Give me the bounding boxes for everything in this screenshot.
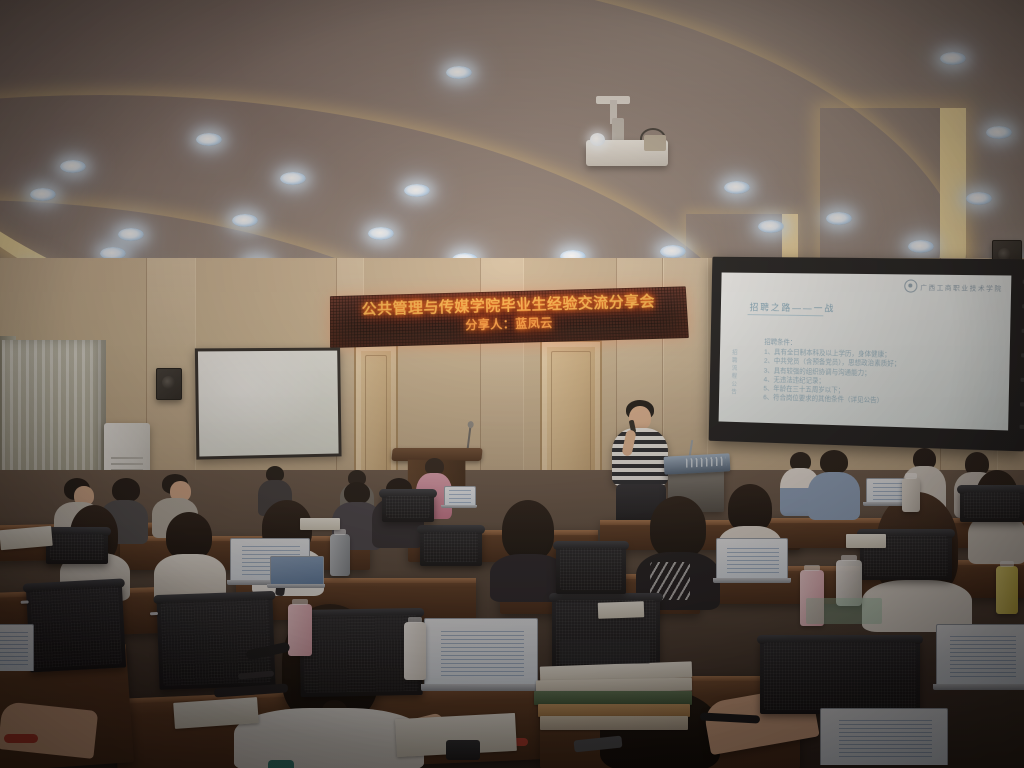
chair[interactable]: [960, 488, 1024, 522]
chair[interactable]: [556, 544, 626, 594]
ceiling-downlight: [724, 181, 750, 194]
paper-sheet[interactable]: [300, 518, 340, 530]
thermos-bottle[interactable]: [330, 534, 350, 576]
thermos-bottle[interactable]: [288, 604, 312, 656]
presenter-striped-shirt: [612, 428, 668, 486]
ceiling-downlight: [30, 188, 56, 201]
led-banner: 公共管理与传媒学院毕业生经验交流分享会 分享人：蓝凤云: [330, 286, 689, 348]
desk-pad: [806, 598, 882, 624]
thermos-bottle[interactable]: [996, 566, 1018, 614]
projector-lens-icon: [590, 133, 605, 146]
projector-mount-arm: [612, 118, 624, 142]
desk-pad: [560, 640, 650, 664]
chair[interactable]: [382, 492, 434, 522]
chair[interactable]: [26, 582, 126, 673]
slide-logo-text: 广西工商职业技术学院: [920, 281, 1003, 292]
book-stack[interactable]: [534, 664, 694, 732]
laptop[interactable]: [936, 624, 1024, 690]
ceiling-downlight: [966, 192, 992, 205]
screen-glare: [198, 351, 339, 457]
slide-footer-text: 面试方式：结构化面试为主: [801, 424, 908, 430]
keychain[interactable]: [268, 760, 294, 768]
ceiling-downlight: [60, 160, 86, 173]
ceiling-downlight: [446, 66, 472, 79]
paper-sheet[interactable]: [598, 601, 645, 619]
slide-body: 招聘条件： 1、具有全日制本科及以上学历，身体健康； 2、中共党员（含预备党员）…: [763, 338, 985, 409]
ceiling: [0, 0, 1024, 300]
thermos-bottle[interactable]: [902, 478, 920, 512]
slide-logo: 广西工商职业技术学院: [904, 279, 1003, 293]
screen-tension-clip: [1021, 378, 1024, 382]
ceiling-downlight: [368, 227, 394, 240]
ceiling-downlight: [118, 228, 144, 241]
audio-mixer-console[interactable]: [664, 453, 731, 474]
student-ponytail: [806, 450, 862, 520]
smartphone[interactable]: [446, 740, 480, 760]
chair[interactable]: [46, 530, 108, 564]
ceiling-downlight: [826, 212, 852, 225]
screen-tension-clip: [1020, 402, 1024, 406]
hand-foreground-left: [0, 701, 98, 759]
screen-tension-clip: [1020, 425, 1024, 429]
projector-connector-box: [644, 135, 666, 151]
slide-sidebar-text: 招聘流程公告: [729, 349, 740, 396]
lecture-hall-photo: 公共管理与传媒学院毕业生经验交流分享会 分享人：蓝凤云 广西工商职业技术学院 招…: [0, 0, 1024, 768]
university-seal-icon: [904, 279, 917, 292]
projection-screen-right[interactable]: 广西工商职业技术学院 招聘之路——一战 招聘流程公告 招聘条件： 1、具有全日制…: [719, 272, 1012, 430]
paper-sheet[interactable]: [846, 534, 886, 548]
ceiling-downlight: [940, 52, 966, 65]
laptop[interactable]: [0, 624, 34, 674]
laptop[interactable]: [424, 618, 540, 690]
slide-title: 招聘之路——一战: [750, 300, 836, 314]
ceiling-downlight: [280, 172, 306, 185]
wall-speaker-icon: [156, 368, 182, 400]
laptop[interactable]: [444, 486, 476, 508]
laptop[interactable]: [716, 538, 788, 582]
sheer-curtain: [2, 340, 106, 488]
projection-screen-left[interactable]: [195, 348, 342, 460]
laptop[interactable]: [820, 708, 950, 768]
chair[interactable]: [420, 528, 482, 566]
thermos-bottle[interactable]: [404, 622, 426, 680]
ceiling-downlight: [660, 245, 686, 258]
student-mid-center-2: [490, 500, 566, 600]
slide-title-underline: [748, 314, 824, 316]
ceiling-downlight: [404, 184, 430, 197]
ceiling-downlight: [908, 240, 934, 253]
ceiling-downlight: [758, 220, 784, 233]
bracelet: [4, 734, 38, 743]
student-mid-center: [154, 512, 226, 602]
ceiling-downlight: [986, 126, 1012, 139]
laptop[interactable]: [270, 556, 324, 588]
ceiling-downlight: [196, 133, 222, 146]
projection-screen-right-frame: 广西工商职业技术学院 招聘之路——一战 招聘流程公告 招聘条件： 1、具有全日制…: [709, 257, 1024, 452]
ceiling-downlight: [232, 214, 258, 227]
student-graphic-tee: [636, 496, 720, 606]
chair[interactable]: [760, 638, 920, 714]
